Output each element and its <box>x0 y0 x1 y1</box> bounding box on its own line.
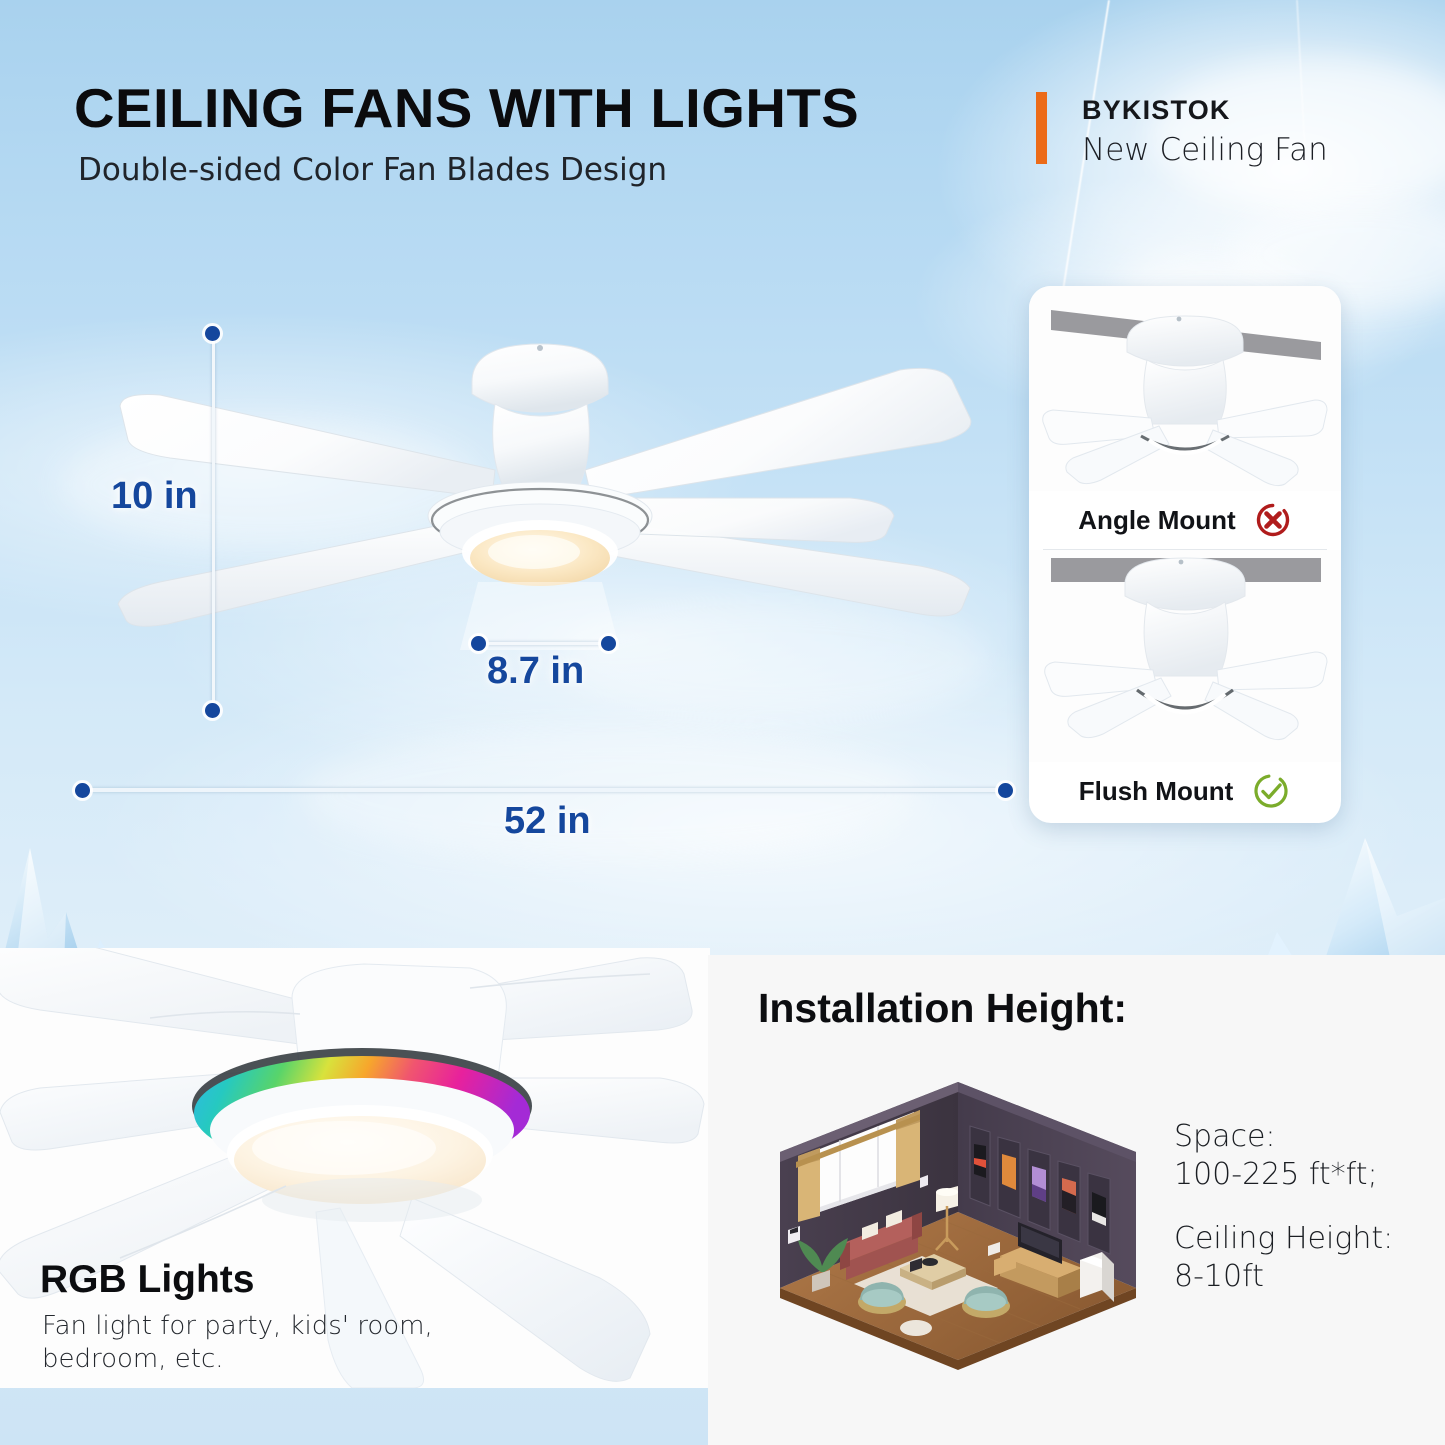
dimension-endpoint-dot <box>998 783 1013 798</box>
installation-ceiling-spec: Ceiling Height: 8-10ft <box>1174 1220 1393 1296</box>
rgb-section-title: RGB Lights <box>40 1258 254 1302</box>
height-dimension-label: 10 in <box>111 475 198 518</box>
flush-mount-label: Flush Mount <box>1079 776 1234 807</box>
height-dimension-line <box>212 333 215 710</box>
page-subtitle: Double-sided Color Fan Blades Design <box>78 152 667 188</box>
dimension-endpoint-dot <box>205 703 220 718</box>
angle-mount-label-row: Angle Mount <box>1029 491 1341 549</box>
installation-title: Installation Height: <box>758 985 1127 1032</box>
infographic-canvas: CEILING FANS WITH LIGHTS Double-sided Co… <box>0 0 1445 1445</box>
body-dimension-label: 8.7 in <box>487 650 584 693</box>
dimension-endpoint-dot <box>205 326 220 341</box>
span-dimension-line <box>82 788 1004 792</box>
isometric-room-illustration <box>762 1070 1162 1410</box>
cloud-wisp <box>300 730 920 860</box>
circle-x-icon <box>1254 501 1292 539</box>
dimension-endpoint-dot <box>601 636 616 651</box>
span-dimension-label: 52 in <box>504 800 591 843</box>
dimension-endpoint-dot <box>75 783 90 798</box>
dimension-endpoint-dot <box>471 636 486 651</box>
angle-mount-diagram <box>1029 286 1341 491</box>
mount-comparison-card: Angle Mount <box>1029 286 1341 823</box>
flush-mount-label-row: Flush Mount <box>1029 762 1341 820</box>
brand-tagline: New Ceiling Fan <box>1082 132 1328 168</box>
body-dimension-line <box>478 642 608 645</box>
page-title: CEILING FANS WITH LIGHTS <box>74 76 859 140</box>
angle-mount-label: Angle Mount <box>1078 505 1235 536</box>
flush-mount-diagram <box>1029 550 1341 762</box>
rgb-section-description: Fan light for party, kids' room, bedroom… <box>42 1310 442 1376</box>
circle-check-icon <box>1251 771 1291 811</box>
brand-name: BYKISTOK <box>1082 95 1231 126</box>
installation-space-spec: Space: 100-225 ft*ft; <box>1174 1118 1378 1194</box>
brand-accent-bar <box>1036 92 1047 164</box>
flush-mount-photo <box>1029 550 1341 762</box>
angle-mount-photo <box>1029 286 1341 491</box>
